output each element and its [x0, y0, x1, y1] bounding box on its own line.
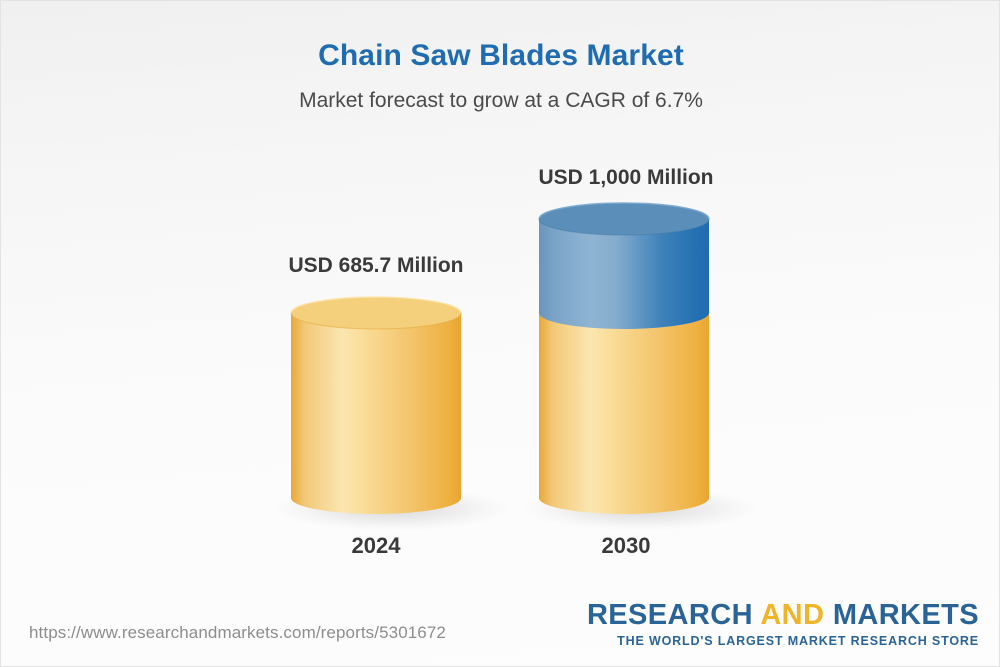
- category-label-2030: 2030: [466, 533, 786, 559]
- source-url[interactable]: https://www.researchandmarkets.com/repor…: [29, 623, 446, 643]
- bar-2030-base-body: [539, 313, 709, 514]
- bar-2024-body: [291, 313, 461, 514]
- brand-logo-wordmark: RESEARCH AND MARKETS: [587, 601, 979, 630]
- bar-cylinder-2030[interactable]: [539, 203, 709, 514]
- brand-logo[interactable]: RESEARCH AND MARKETS THE WORLD'S LARGEST…: [587, 601, 979, 648]
- value-label-2024: USD 685.7 Million: [216, 254, 536, 278]
- cylinder-bars-svg: [1, 1, 1000, 601]
- value-label-2030: USD 1,000 Million: [466, 166, 786, 190]
- brand-logo-research: RESEARCH: [587, 599, 753, 631]
- chart-plot-area: USD 685.7 Million USD 1,000 Million 2024…: [1, 1, 1000, 601]
- brand-logo-and: AND: [760, 599, 824, 631]
- infographic-canvas: Chain Saw Blades Market Market forecast …: [0, 0, 1000, 667]
- brand-logo-markets: MARKETS: [833, 599, 979, 631]
- bar-cylinder-2024[interactable]: [291, 297, 461, 514]
- brand-tagline: THE WORLD'S LARGEST MARKET RESEARCH STOR…: [587, 635, 979, 648]
